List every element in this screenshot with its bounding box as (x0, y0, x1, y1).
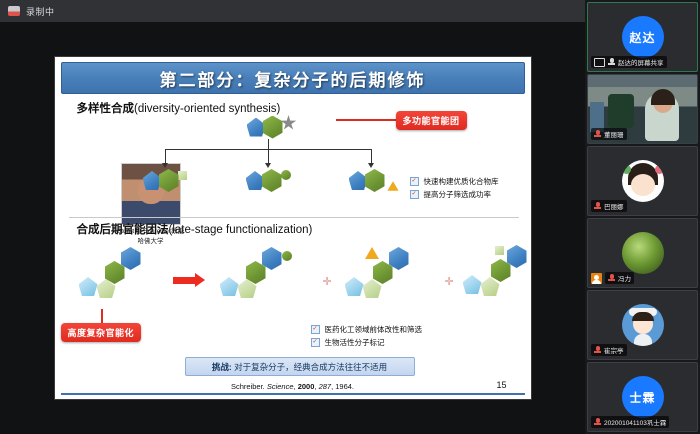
molecule-lsf-product-3 (463, 243, 555, 301)
microphone-muted-icon (594, 202, 601, 210)
shared-screen-stage: 第二部分：复杂分子的后期修饰 多样性合成(diversity-oriented … (0, 22, 585, 434)
section-divider (69, 217, 519, 218)
checklist-bottom-text-1: 生物活性分子标记 (325, 336, 385, 349)
check-icon: ✓ (410, 190, 419, 199)
molecule-child-1 (143, 169, 187, 192)
photo-caption-line-2: 哈佛大学 (103, 237, 199, 247)
challenge-label: 挑战: (212, 362, 232, 372)
tree-branch-1 (165, 149, 166, 164)
slide-title-bar: 第二部分：复杂分子的后期修饰 (61, 62, 525, 94)
unit-hexagon-green (159, 169, 179, 192)
plus-sign-2: ✛ (445, 275, 454, 288)
check-icon: ✓ (410, 177, 419, 186)
participant-name-0: 赵达的屏幕共享 (618, 57, 664, 67)
citation-year: 2000 (298, 382, 315, 391)
arrow-shaft (173, 277, 195, 284)
section-1-cn: 多样性合成 (77, 103, 135, 115)
section-2-cn: 合成后期官能团法 (77, 224, 169, 236)
chair (608, 94, 634, 128)
citation: Schreiber. Science, 2000, 287, 1964. (55, 382, 531, 391)
challenge-banner: 挑战: 对于复杂分子，经典合成方法往往不适用 (185, 357, 415, 376)
participant-namebar-0: 赵达的屏幕共享 (591, 56, 667, 68)
microphone-muted-icon (594, 346, 601, 354)
avatar-body (634, 334, 652, 346)
avatar: 赵达 (622, 16, 664, 58)
checklist-top-text-1: 提高分子筛选成功率 (424, 188, 492, 201)
tree-arrowhead-1 (162, 163, 168, 168)
participant-tile-1[interactable]: 董丽珊 (587, 74, 698, 144)
microphone-muted-icon (608, 274, 615, 282)
section-1-en: (diversity-oriented synthesis) (134, 103, 280, 115)
avatar-hair (632, 312, 654, 321)
unit-pentagon-lightblue (220, 277, 239, 296)
avatar (622, 304, 664, 346)
person-hair (651, 89, 675, 105)
star-icon (281, 115, 297, 131)
avatar: 士霖 (622, 376, 664, 418)
participant-name-1: 董丽珊 (604, 129, 624, 139)
unit-hexagon-green (365, 169, 385, 192)
citation-volume: 287 (319, 382, 332, 391)
plus-sign-1: ✛ (323, 275, 332, 288)
participant-name-4: 崔宗亭 (604, 345, 624, 355)
section-2-heading: 合成后期官能团法(late-stage functionalization) (77, 221, 313, 237)
check-icon: ✓ (311, 338, 320, 347)
checklist-top-item-0: ✓快速构建优质化合物库 (410, 175, 499, 188)
challenge-text: 对于复杂分子，经典合成方法往往不适用 (234, 362, 387, 372)
recording-bar: 录制中 (0, 0, 585, 22)
microphone-muted-icon (594, 418, 601, 426)
citation-author: Schreiber. (231, 382, 265, 391)
checklist-bottom-text-0: 医药化工领域前体改性和筛选 (325, 323, 423, 336)
meeting-window: 录制中 第二部分：复杂分子的后期修饰 多样性合成(diversity-orien… (0, 0, 700, 434)
unit-pentagon-lightblue (463, 275, 482, 294)
section-1-heading: 多样性合成(diversity-oriented synthesis) (77, 100, 281, 116)
section-2-en: (late-stage functionalization) (169, 224, 313, 236)
tree-branch-3 (371, 149, 372, 164)
unit-hexagon-green (262, 169, 282, 192)
molecule-child-3 (349, 169, 385, 192)
participant-name-5: 202001041103巩士霖 (604, 417, 666, 427)
checklist-top-item-1: ✓提高分子筛选成功率 (410, 188, 499, 201)
molecule-parent (247, 115, 297, 139)
unit-square-green (178, 171, 187, 180)
molecule-child-2 (246, 169, 291, 192)
unit-pentagon-lightblue (79, 277, 98, 296)
triangle-icon (365, 247, 379, 259)
microphone-muted-icon (594, 130, 601, 138)
participant-tile-3[interactable]: 冯力 (587, 218, 698, 288)
participant-name-3: 冯力 (618, 273, 631, 283)
participant-namebar-5: 202001041103巩士霖 (591, 416, 669, 428)
reaction-arrow (173, 273, 205, 287)
tree-arrowhead-2 (265, 163, 271, 168)
checklist-bottom: ✓医药化工领域前体改性和筛选 ✓生物活性分子标记 (311, 323, 423, 349)
participant-tile-4[interactable]: 崔宗亭 (587, 290, 698, 360)
triangle-icon (387, 181, 398, 191)
avatar-face (631, 174, 655, 196)
checklist-top: ✓快速构建优质化合物库 ✓提高分子筛选成功率 (410, 175, 499, 201)
screen-share-icon (594, 58, 605, 67)
molecule-lsf-start (79, 247, 159, 301)
presentation-slide: 第二部分：复杂分子的后期修饰 多样性合成(diversity-oriented … (54, 56, 532, 400)
citation-journal: Science (267, 382, 294, 391)
participant-namebar-2: 巴丽娜 (591, 200, 627, 212)
tree-arrowhead-3 (368, 163, 374, 168)
recording-label: 录制中 (26, 5, 55, 18)
callout-multifunctional: 多功能官能团 (396, 111, 467, 130)
checklist-bottom-item-1: ✓生物活性分子标记 (311, 336, 423, 349)
microphone-icon (608, 58, 615, 66)
checklist-bottom-item-0: ✓医药化工领域前体改性和筛选 (311, 323, 423, 336)
checklist-top-text-0: 快速构建优质化合物库 (424, 175, 499, 188)
tree-branch-2 (268, 149, 269, 164)
participant-tile-5[interactable]: 士霖 202001041103巩士霖 (587, 362, 698, 432)
slide-title: 第二部分：复杂分子的后期修饰 (160, 66, 426, 91)
challenge-content: 挑战: 对于复杂分子，经典合成方法往往不适用 (212, 361, 387, 373)
participant-name-2: 巴丽娜 (604, 201, 624, 211)
citation-page: 1964. (335, 382, 354, 391)
slide-page-number: 15 (496, 380, 506, 390)
callout-complex-functionalization: 高度复杂官能化 (61, 323, 142, 342)
participant-tile-2[interactable]: 巴丽娜 (587, 146, 698, 216)
participant-tile-0[interactable]: 赵达 赵达的屏幕共享 (587, 2, 698, 72)
avatar (622, 160, 664, 202)
unit-square-green (495, 246, 504, 255)
participant-namebar-1: 董丽珊 (591, 128, 627, 140)
avatar-decor-right (655, 165, 664, 174)
avatar-decor-left (622, 165, 631, 174)
record-icon (8, 6, 20, 16)
host-icon (591, 273, 602, 284)
slide-bottom-rule (61, 393, 525, 395)
molecule-lsf-product-2 (343, 243, 435, 301)
participant-namebar-4: 崔宗亭 (591, 344, 627, 356)
molecule-lsf-product-1 (220, 247, 312, 301)
unit-pentagon-lightgreen (481, 277, 500, 296)
callout-top-leader (336, 119, 398, 121)
participant-rail[interactable]: 赵达 赵达的屏幕共享 董丽珊 (585, 0, 700, 434)
unit-circle-green (281, 170, 291, 180)
arrow-head (195, 273, 205, 287)
unit-pentagon-lightgreen (363, 279, 382, 298)
unit-circle-green (282, 251, 292, 261)
unit-hexagon-green (263, 116, 283, 139)
avatar (622, 232, 664, 274)
participant-namebar-3: 冯力 (605, 272, 634, 284)
unit-pentagon-lightblue (345, 277, 364, 296)
check-icon: ✓ (311, 325, 320, 334)
